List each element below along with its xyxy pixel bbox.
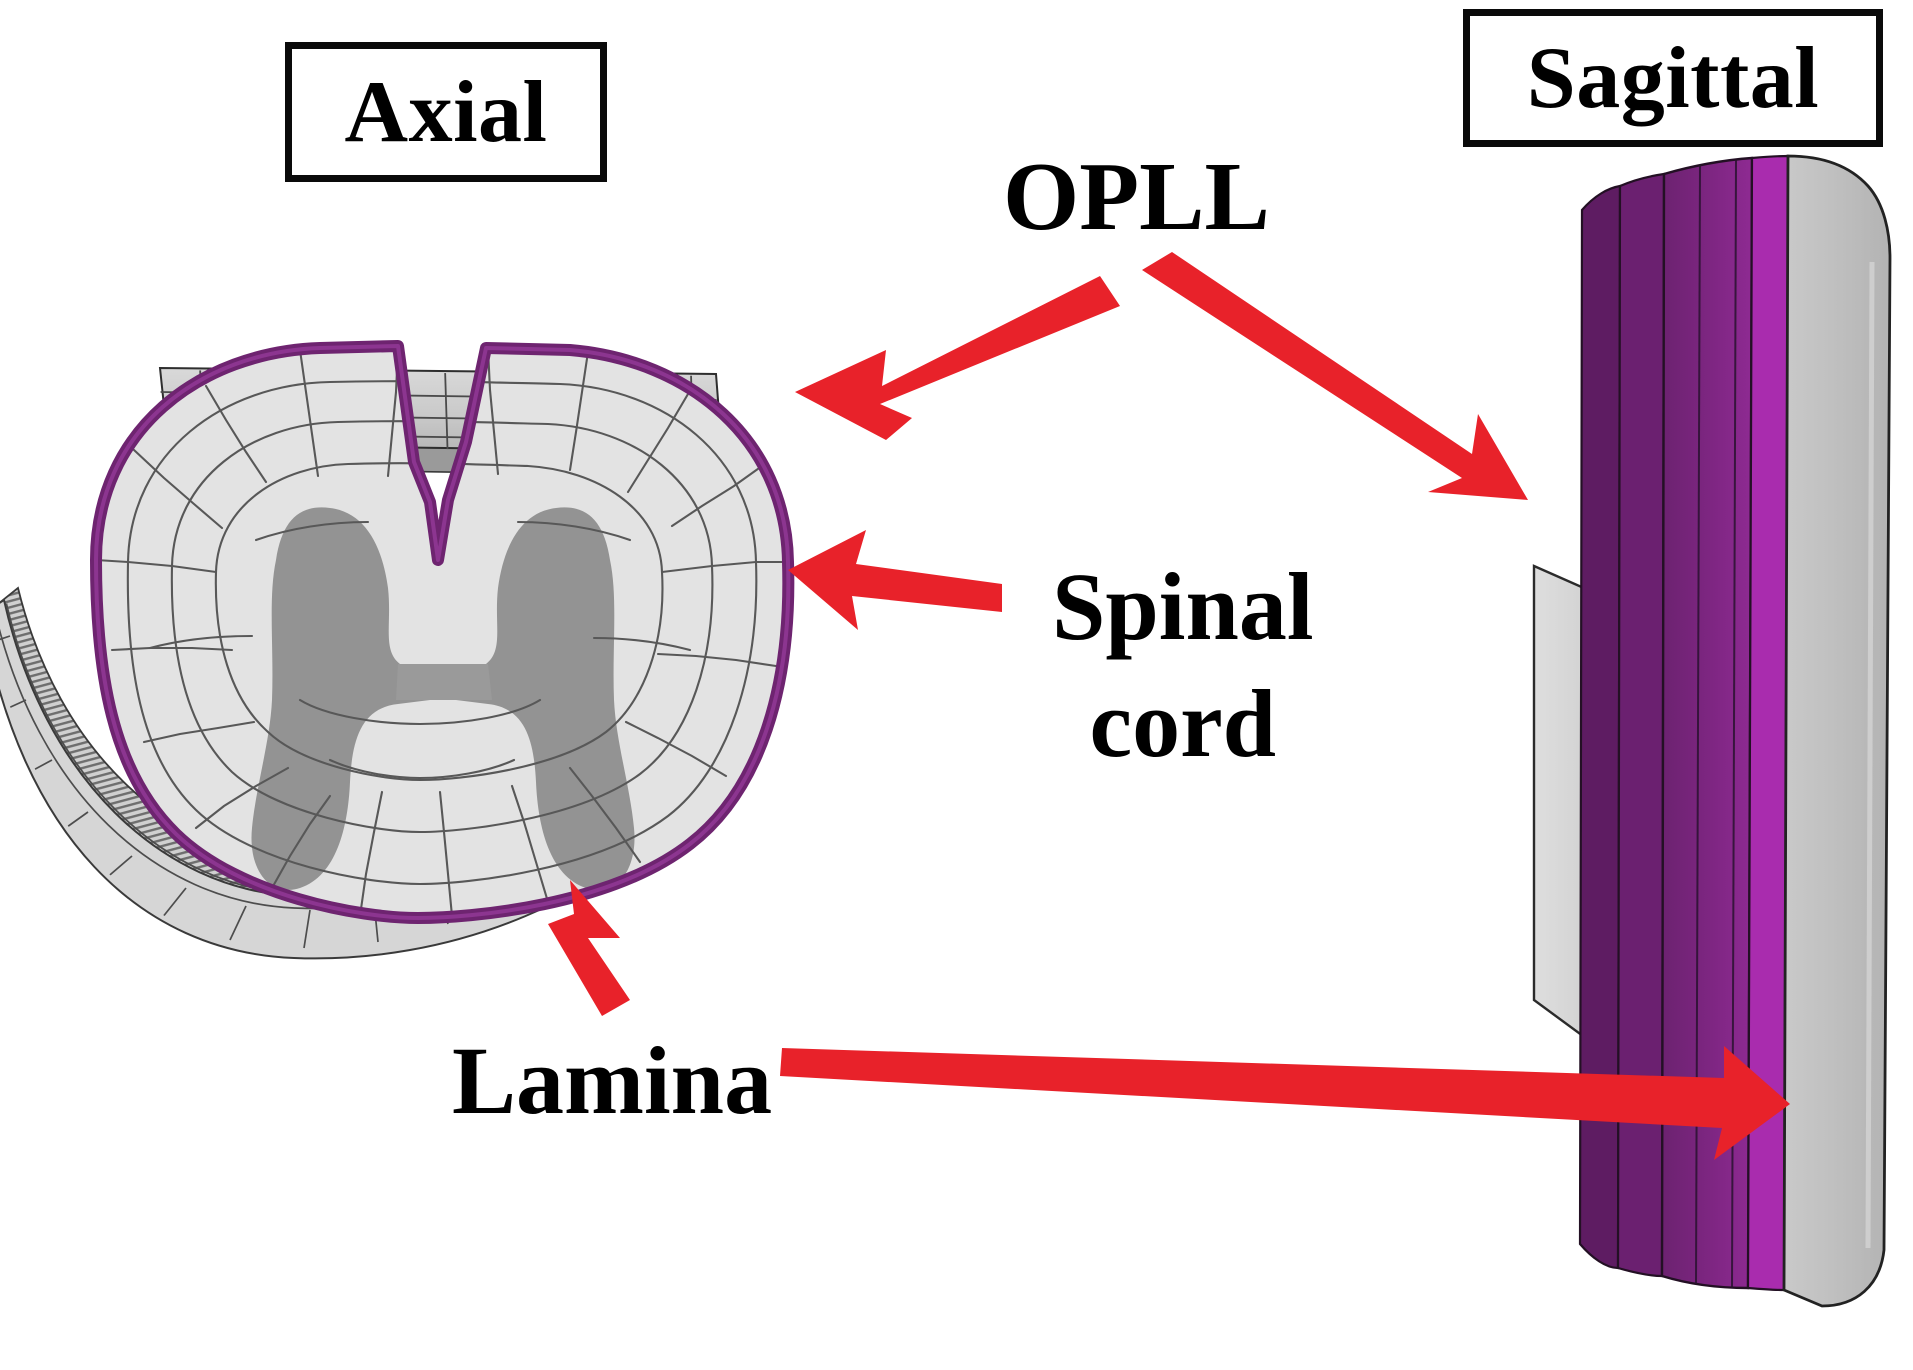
sagittal-model-graphic <box>0 0 1913 1370</box>
sagittal-opll-band <box>1784 156 1890 1306</box>
opll-annotation-label: OPLL <box>1003 148 1270 248</box>
spinal-cord-label-line2: cord <box>1052 665 1314 782</box>
sagittal-spinal-cord-column <box>1580 156 1788 1290</box>
spinal-cord-annotation-label: Spinal cord <box>1052 548 1314 782</box>
figure-canvas: Axial Sagittal OPLL Spinal cord Lamina <box>0 0 1913 1370</box>
spinal-cord-label-line1: Spinal <box>1052 548 1314 665</box>
sagittal-view-label: Sagittal <box>1463 9 1883 147</box>
axial-view-label: Axial <box>285 42 607 182</box>
lamina-annotation-label: Lamina <box>452 1032 772 1130</box>
